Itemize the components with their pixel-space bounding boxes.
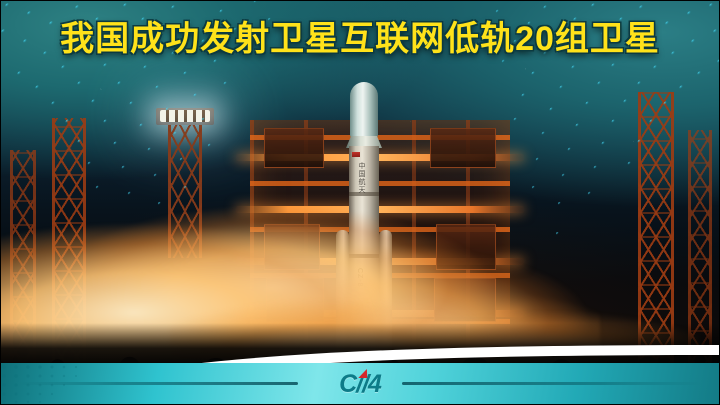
floodlight-lamps [160, 110, 210, 122]
rocket-flag [352, 152, 360, 157]
channel-logo[interactable]: C//4 [339, 370, 381, 398]
news-graphic-card: 中国航天 CZ-8 [0, 0, 720, 405]
footer-bar: C//4 [0, 363, 720, 405]
rocket-fairing [350, 82, 378, 138]
rocket-body-text: 中国航天 [356, 162, 366, 194]
footer-rule-right [402, 382, 702, 385]
gantry-panel [264, 128, 324, 168]
gantry-panel [430, 128, 496, 168]
page-title: 我国成功发射卫星互联网低轨20组卫星 [0, 22, 720, 56]
launch-photo: 中国航天 CZ-8 [0, 0, 720, 405]
footer-rule-left [18, 382, 298, 385]
logo-accent-triangle-icon [358, 369, 369, 378]
